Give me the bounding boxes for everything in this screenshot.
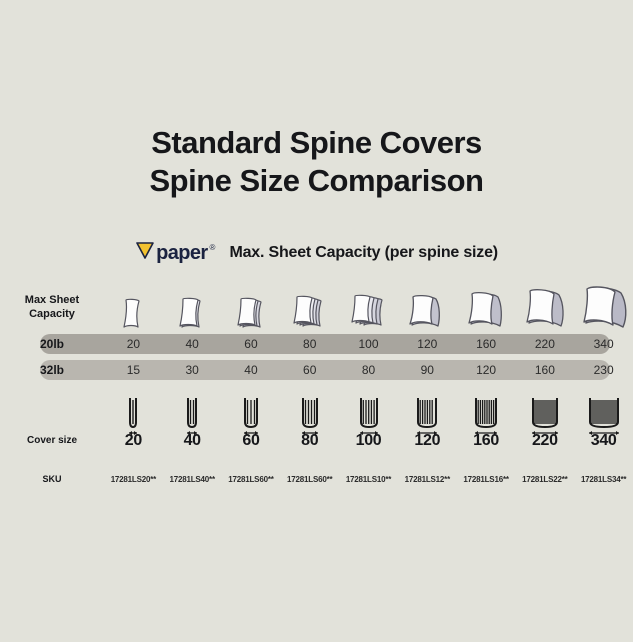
cover-size-cell: 220: [515, 432, 574, 450]
sku-label: SKU: [0, 472, 104, 486]
capacity-cell-32lb: 30: [163, 363, 222, 377]
paper-stack-icon-cell: [222, 276, 281, 334]
capacity-cell-32lb: 230: [574, 363, 633, 377]
sku-cell: 17281LS60**: [280, 475, 339, 484]
sku-cell: 17281LS40**: [163, 475, 222, 484]
paper-stack-icon-cell: [280, 276, 339, 334]
capacity-cell-20lb: 120: [398, 337, 457, 351]
capacity-row-32lb: 32lb 15 30 40 60 80 90 120 160 230: [0, 360, 633, 380]
band-label-20lb: 20lb: [0, 337, 104, 351]
capacity-cell-32lb: 160: [515, 363, 574, 377]
page-title: Standard Spine Covers Spine Size Compari…: [0, 124, 633, 200]
cover-size-row: Cover size 20 40 60 80 100 120 160 220 3…: [0, 430, 633, 452]
paper-stack-icon-cell: [163, 276, 222, 334]
sku-cell: 17281LS16**: [457, 475, 516, 484]
paper-stack-icon: [460, 288, 512, 334]
cover-size-cell: 100: [339, 432, 398, 450]
vpaper-logo: paper ®: [135, 240, 215, 265]
title-line-2: Spine Size Comparison: [0, 162, 633, 200]
capacity-cell-20lb: 40: [163, 337, 222, 351]
sku-cells: 17281LS20** 17281LS40** 17281LS60** 1728…: [104, 475, 633, 484]
paper-stack-icon-cell: [339, 276, 398, 334]
sku-row: SKU 17281LS20** 17281LS40** 17281LS60** …: [0, 471, 633, 487]
capacity-cell-20lb: 220: [515, 337, 574, 351]
paper-stack-icon: [575, 284, 633, 334]
cover-size-label: Cover size: [0, 434, 104, 448]
logo-wordmark: paper: [156, 243, 207, 263]
paper-stack-icon: [345, 290, 393, 334]
paper-stack-icon: [115, 294, 151, 334]
title-line-1: Standard Spine Covers: [0, 124, 633, 162]
cover-size-cell: 80: [280, 432, 339, 450]
paper-stack-icon-cell: [457, 276, 516, 334]
cover-size-cell: 40: [163, 432, 222, 450]
logo-registered-mark: ®: [210, 243, 216, 252]
paper-stack-icon: [230, 294, 272, 334]
capacity-cell-32lb: 40: [222, 363, 281, 377]
max-sheet-capacity-label-line1: Max Sheet: [0, 293, 104, 307]
paper-stack-cells: [104, 276, 633, 334]
capacity-row-20lb: 20lb 20 40 60 80 100 120 160 220 340: [0, 334, 633, 354]
capacity-cell-20lb: 80: [280, 337, 339, 351]
sku-cell: 17281LS10**: [339, 475, 398, 484]
infographic-page: Standard Spine Covers Spine Size Compari…: [0, 0, 633, 642]
sku-cell: 17281LS22**: [515, 475, 574, 484]
band-content-32lb: 32lb 15 30 40 60 80 90 120 160 230: [0, 360, 633, 380]
subtitle-text: Max. Sheet Capacity (per spine size): [229, 244, 497, 262]
capacity-cell-20lb: 20: [104, 337, 163, 351]
cover-size-cell: 160: [457, 432, 516, 450]
paper-stack-icon: [518, 286, 572, 334]
band-label-32lb: 32lb: [0, 363, 104, 377]
paper-stack-icon: [172, 294, 212, 334]
paper-stack-icon-cell: [104, 276, 163, 334]
max-sheet-capacity-label-line2: Capacity: [0, 307, 104, 321]
capacity-cell-32lb: 90: [398, 363, 457, 377]
paper-stack-icon: [287, 292, 333, 334]
sku-cell: 17281LS12**: [398, 475, 457, 484]
sku-cell: 17281LS60**: [222, 475, 281, 484]
cover-size-cells: 20 40 60 80 100 120 160 220 340: [104, 432, 633, 450]
cover-size-cell: 60: [222, 432, 281, 450]
capacity-cell-20lb: 100: [339, 337, 398, 351]
cover-size-cell: 340: [574, 432, 633, 450]
capacity-cell-20lb: 60: [222, 337, 281, 351]
capacity-cell-32lb: 120: [457, 363, 516, 377]
cover-size-cell: 120: [398, 432, 457, 450]
capacity-cell-32lb: 15: [104, 363, 163, 377]
paper-stack-icon-cell: [574, 276, 633, 334]
capacity-cell-20lb: 340: [574, 337, 633, 351]
max-sheet-capacity-label: Max Sheet Capacity: [0, 293, 104, 321]
sku-cell: 17281LS34**: [574, 475, 633, 484]
capacity-cell-32lb: 80: [339, 363, 398, 377]
paper-stack-icon: [402, 290, 452, 334]
paper-stack-row: Max Sheet Capacity: [0, 276, 633, 334]
paper-stack-icon-cell: [515, 276, 574, 334]
paper-stack-icon-cell: [398, 276, 457, 334]
capacity-cell-20lb: 160: [457, 337, 516, 351]
logo-v-icon: [135, 240, 155, 265]
band-content-20lb: 20lb 20 40 60 80 100 120 160 220 340: [0, 334, 633, 354]
capacity-cell-32lb: 60: [280, 363, 339, 377]
subhead-row: paper ® Max. Sheet Capacity (per spine s…: [0, 240, 633, 265]
cover-size-cell: 20: [104, 432, 163, 450]
sku-cell: 17281LS20**: [104, 475, 163, 484]
